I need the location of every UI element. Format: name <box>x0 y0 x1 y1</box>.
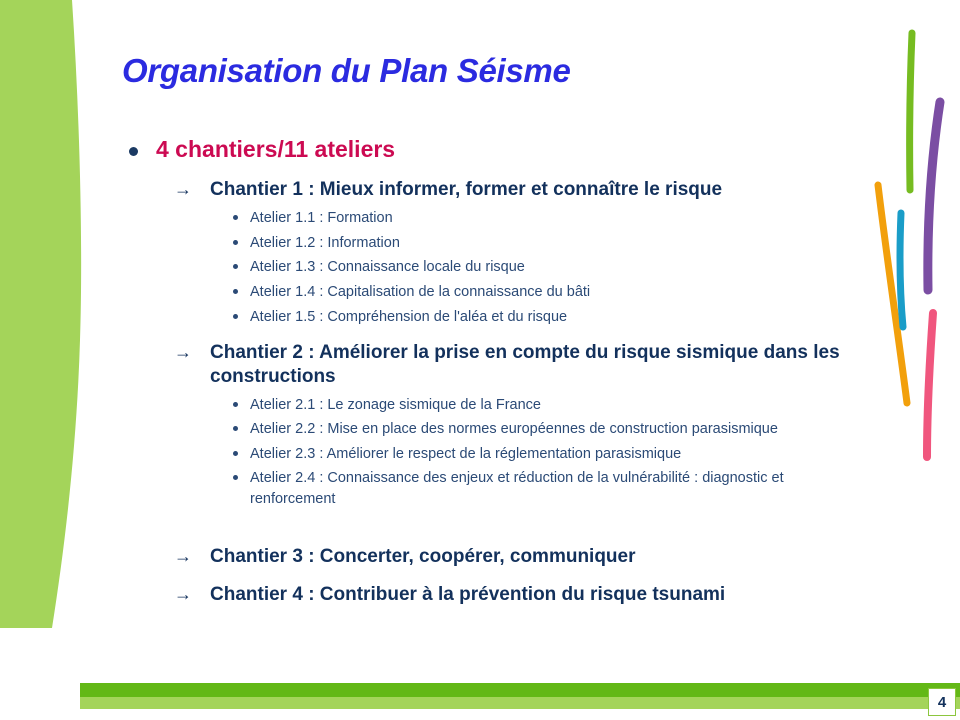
arrow-right-icon: → <box>174 545 192 568</box>
atelier-text: Atelier 1.4 : Capitalisation de la conna… <box>250 284 590 300</box>
list-item: Atelier 1.3 : Connaissance locale du ris… <box>122 257 862 278</box>
bullet-small-dot-icon <box>233 475 238 480</box>
stroke-green <box>910 33 912 190</box>
bullet-dot-icon <box>129 147 138 156</box>
list-item: Atelier 2.4 : Connaissance des enjeux et… <box>122 468 862 509</box>
chantier-title-3: Chantier 3 : Concerter, coopérer, commun… <box>210 546 636 567</box>
bullet-small-dot-icon <box>233 215 238 220</box>
slide: Organisation du Plan Séisme 4 chantiers/… <box>0 0 960 720</box>
list-item: Atelier 1.4 : Capitalisation de la conna… <box>122 282 862 303</box>
left-green-wedge-decoration <box>0 0 100 640</box>
list-item: Atelier 2.2 : Mise en place des normes e… <box>122 419 862 440</box>
list-item: Atelier 1.2 : Information <box>122 233 862 254</box>
stroke-cyan <box>900 213 903 327</box>
footer-band-light <box>80 697 960 709</box>
page-number-text: 4 <box>938 695 946 710</box>
spacer <box>122 523 862 533</box>
bullet-small-dot-icon <box>233 264 238 269</box>
list-item: Atelier 2.1 : Le zonage sismique de la F… <box>122 395 862 416</box>
stroke-pink <box>927 313 933 457</box>
arrow-right-icon: → <box>174 583 192 606</box>
bullet-small-dot-icon <box>233 240 238 245</box>
decorative-strokes-group <box>855 10 960 480</box>
headline-bullet: 4 chantiers/11 ateliers <box>122 136 862 162</box>
page-number-badge: 4 <box>928 688 956 716</box>
chantier-title-4: Chantier 4 : Contribuer à la prévention … <box>210 584 725 605</box>
headline-text: 4 chantiers/11 ateliers <box>156 136 395 162</box>
atelier-text: Atelier 1.2 : Information <box>250 235 400 251</box>
bullet-small-dot-icon <box>233 451 238 456</box>
arrow-right-icon: → <box>174 178 192 201</box>
bullet-small-dot-icon <box>233 426 238 431</box>
chantier-heading-4: → Chantier 4 : Contribuer à la préventio… <box>122 583 862 607</box>
footer-bar <box>80 683 960 709</box>
stroke-purple <box>928 102 940 290</box>
atelier-text: Atelier 2.2 : Mise en place des normes e… <box>250 421 778 437</box>
bullet-small-dot-icon <box>233 314 238 319</box>
arrow-right-icon: → <box>174 341 192 364</box>
chantier-block-4: → Chantier 4 : Contribuer à la préventio… <box>122 583 862 607</box>
chantier-title-1: Chantier 1 : Mieux informer, former et c… <box>210 179 722 200</box>
chantier-heading-1: → Chantier 1 : Mieux informer, former et… <box>122 178 862 202</box>
atelier-text: Atelier 1.5 : Compréhension de l'aléa et… <box>250 309 567 325</box>
list-item: Atelier 1.1 : Formation <box>122 208 862 229</box>
atelier-text: Atelier 1.3 : Connaissance locale du ris… <box>250 259 525 275</box>
chantier-block-1: → Chantier 1 : Mieux informer, former et… <box>122 178 862 327</box>
chantier-heading-2: → Chantier 2 : Améliorer la prise en com… <box>122 341 862 389</box>
list-item: Atelier 2.3 : Améliorer le respect de la… <box>122 444 862 465</box>
chantier-block-2: → Chantier 2 : Améliorer la prise en com… <box>122 341 862 509</box>
footer-band-dark <box>80 683 960 697</box>
atelier-text: Atelier 2.3 : Améliorer le respect de la… <box>250 446 681 462</box>
page-title: Organisation du Plan Séisme <box>122 52 571 90</box>
slide-content: 4 chantiers/11 ateliers → Chantier 1 : M… <box>122 136 862 607</box>
atelier-list-2: Atelier 2.1 : Le zonage sismique de la F… <box>122 395 862 510</box>
chantier-title-2: Chantier 2 : Améliorer la prise en compt… <box>210 342 840 387</box>
atelier-list-1: Atelier 1.1 : Formation Atelier 1.2 : In… <box>122 208 862 327</box>
list-item: Atelier 1.5 : Compréhension de l'aléa et… <box>122 307 862 328</box>
chantier-block-3: → Chantier 3 : Concerter, coopérer, comm… <box>122 545 862 569</box>
chantier-heading-3: → Chantier 3 : Concerter, coopérer, comm… <box>122 545 862 569</box>
bullet-small-dot-icon <box>233 289 238 294</box>
atelier-text: Atelier 1.1 : Formation <box>250 210 393 226</box>
atelier-text: Atelier 2.4 : Connaissance des enjeux et… <box>250 470 784 507</box>
bullet-small-dot-icon <box>233 402 238 407</box>
atelier-text: Atelier 2.1 : Le zonage sismique de la F… <box>250 397 541 413</box>
